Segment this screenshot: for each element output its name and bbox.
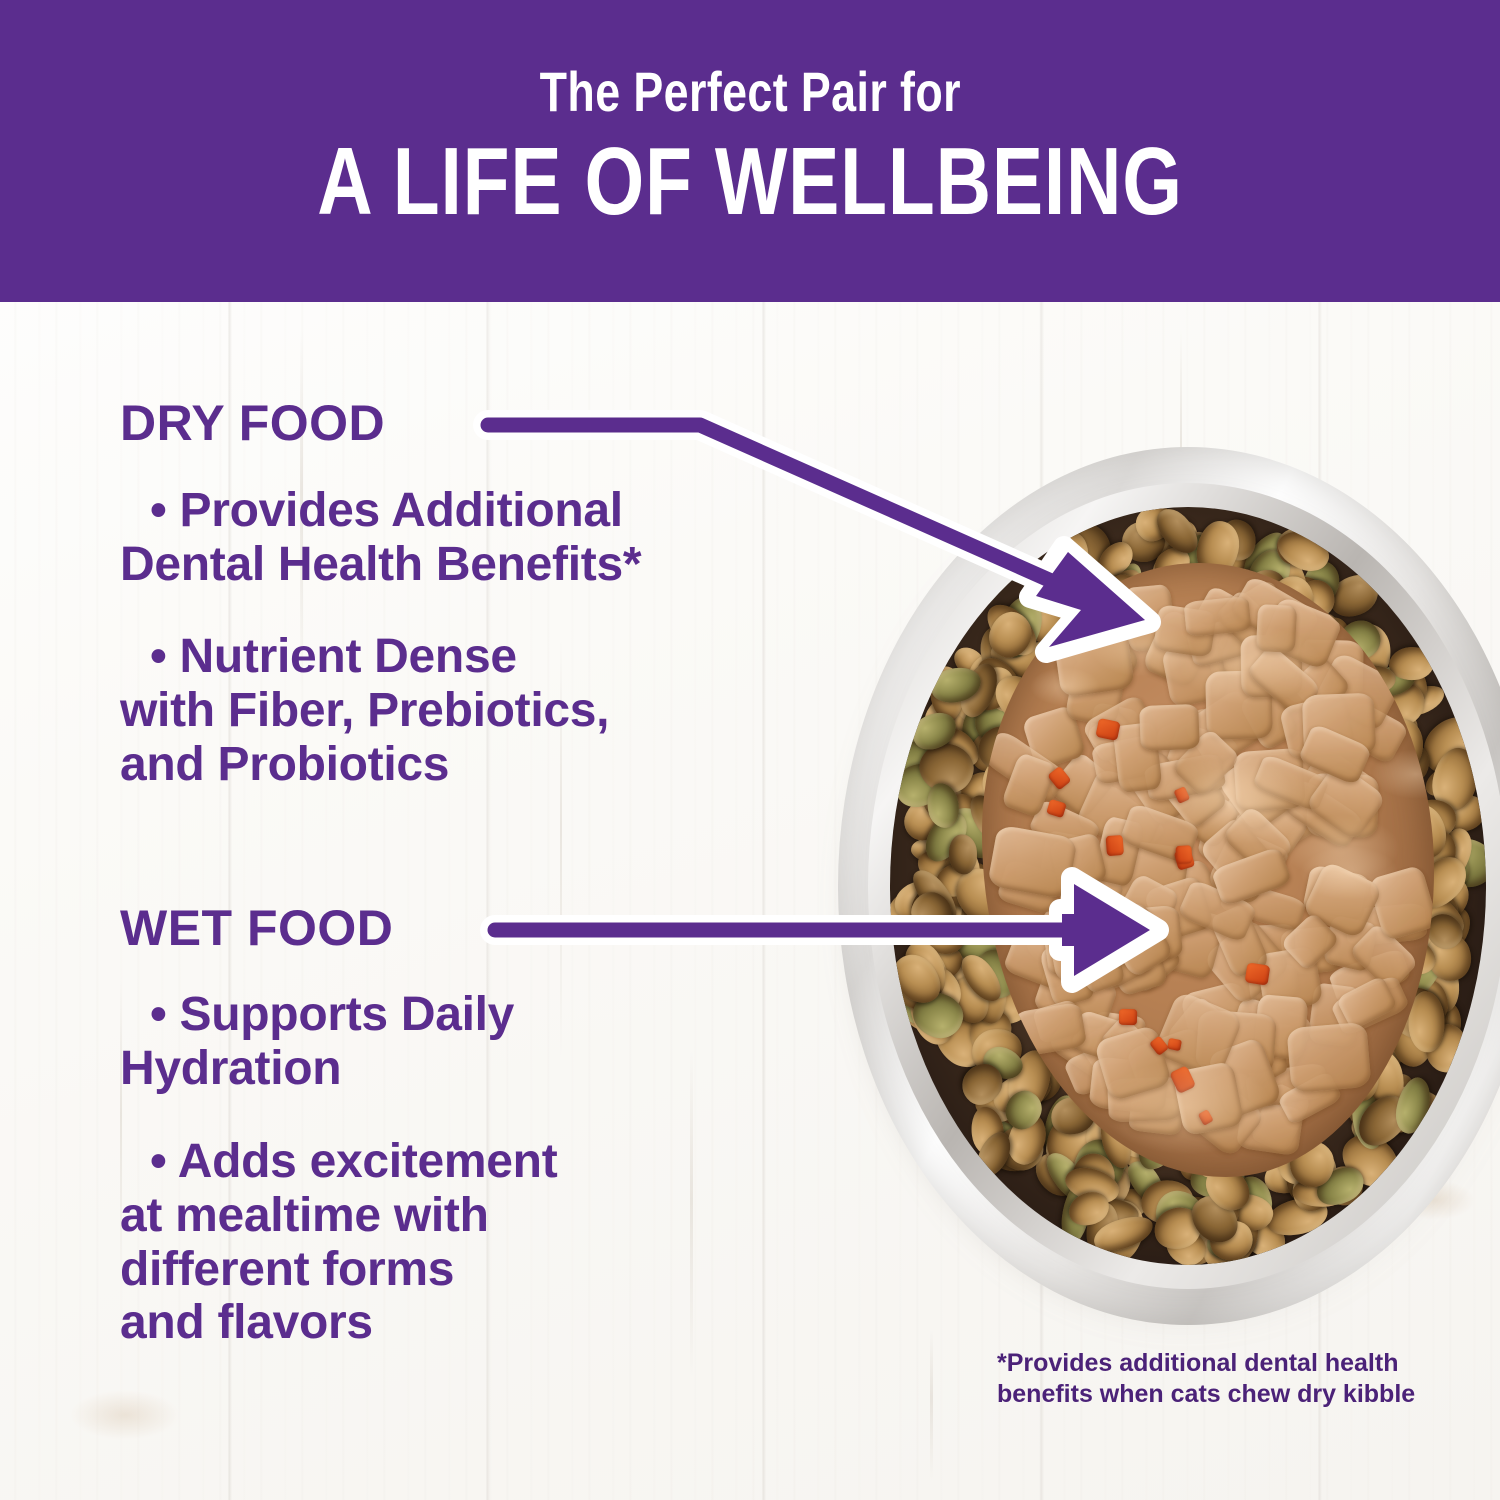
wet-food-chunk bbox=[1286, 1022, 1371, 1094]
wet-food-chunk bbox=[1053, 625, 1135, 698]
bullet-wet-1: • Supports Daily Hydration bbox=[120, 988, 820, 1096]
product-benefits-infographic: The Perfect Pair for A LIFE OF WELLBEING bbox=[0, 0, 1500, 1500]
bullet-dry-2: • Nutrient Dense with Fiber, Prebiotics,… bbox=[120, 630, 820, 791]
bullet-dry-1: • Provides Additional Dental Health Bene… bbox=[120, 484, 820, 592]
vegetable-bit bbox=[1176, 845, 1193, 864]
section-heading-dry-food: DRY FOOD bbox=[120, 398, 820, 448]
header-banner: The Perfect Pair for A LIFE OF WELLBEING bbox=[0, 0, 1500, 302]
banner-title: A LIFE OF WELLBEING bbox=[317, 134, 1183, 230]
wet-food-chunk bbox=[1139, 704, 1199, 751]
vegetable-bit bbox=[1119, 1008, 1138, 1024]
vegetable-bit bbox=[1244, 963, 1270, 986]
bullet-wet-2: • Adds excitement at mealtime with diffe… bbox=[120, 1135, 820, 1350]
banner-subtitle: The Perfect Pair for bbox=[539, 64, 960, 120]
wet-food-chunk bbox=[1183, 596, 1251, 637]
vegetable-bit bbox=[1105, 835, 1123, 856]
wet-food-chunk bbox=[1256, 604, 1297, 653]
section-heading-wet-food: WET FOOD bbox=[120, 903, 820, 953]
footnote-dental-disclaimer: *Provides additional dental health benef… bbox=[997, 1348, 1415, 1409]
bowl-interior bbox=[890, 507, 1486, 1265]
vegetable-bit bbox=[1095, 718, 1121, 741]
pet-food-bowl-photo bbox=[838, 447, 1500, 1325]
